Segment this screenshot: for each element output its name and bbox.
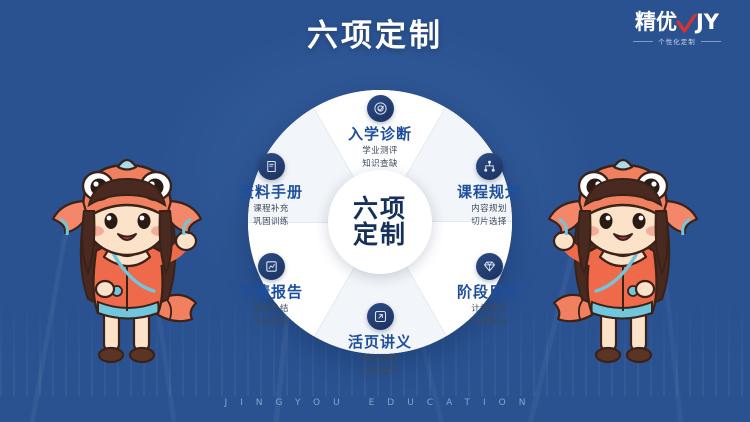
segment-subtitle: 内容规划 切片选择: [471, 203, 507, 228]
hub-label-line2: 定制: [353, 222, 407, 249]
segment-subtitle-line2: 知识查缺: [362, 158, 398, 170]
segment-subtitle-line1: 因材施教: [362, 353, 398, 365]
brand-logo: 精优 JY 个性化定制: [618, 8, 736, 50]
tagline-rule-left: [633, 41, 653, 42]
koi-girl-mascot-right: [542, 139, 702, 374]
footer-brand-text: JINGYOU EDUCATION: [0, 398, 750, 408]
hierarchy-icon: [476, 153, 503, 180]
diamond-icon: [476, 253, 503, 280]
report-chart-icon: [258, 253, 285, 280]
external-link-icon: [367, 303, 394, 330]
wheel-segment-material-manual[interactable]: 资料手册 课程补充 巩固训练: [215, 153, 327, 228]
segment-subtitle: 情况总结 互通有无: [253, 303, 289, 328]
logo-wordmark: 精优 JY: [635, 12, 719, 33]
segment-subtitle-line1: 计划落实: [471, 303, 507, 315]
wheel-hub: 六项 定制: [328, 170, 432, 274]
segment-subtitle-line1: 学业测评: [362, 145, 398, 157]
segment-title: 课程规划: [457, 184, 521, 201]
segment-subtitle-line2: 分层教学: [362, 366, 398, 378]
segment-subtitle: 学业测评 知识查缺: [362, 145, 398, 170]
segment-subtitle-line2: 互通有无: [253, 316, 289, 328]
hub-label: 六项 定制: [353, 196, 407, 249]
logo-brand-cn: 精优: [635, 12, 677, 33]
segment-subtitle-line2: 切片选择: [471, 216, 507, 228]
segment-subtitle: 计划落实 结果导向: [471, 303, 507, 328]
segment-subtitle: 课程补充 巩固训练: [253, 203, 289, 228]
compass-target-icon: [367, 95, 394, 122]
segment-subtitle: 因材施教 分层教学: [362, 353, 398, 378]
hub-label-line1: 六项: [353, 196, 407, 223]
wheel-segment-loose-leaf-handouts[interactable]: 活页讲义 因材施教 分层教学: [324, 303, 436, 378]
segment-subtitle-line1: 情况总结: [253, 303, 289, 315]
check-icon: [678, 13, 695, 33]
six-custom-wheel: 六项 定制 入学诊断 学业测评 知识查缺: [248, 90, 512, 354]
koi-girl-mascot-left: [48, 139, 208, 374]
segment-title: 入学诊断: [348, 126, 412, 143]
tagline-rule-right: [701, 41, 721, 42]
segment-subtitle-line2: 巩固训练: [253, 216, 289, 228]
segment-title: 学情报告: [239, 284, 303, 301]
wheel-segment-course-planning[interactable]: 课程规划 内容规划 切片选择: [433, 153, 545, 228]
logo-tagline-row: 个性化定制: [633, 36, 721, 46]
wheel-segment-learning-report[interactable]: 学情报告 情况总结 互通有无: [215, 253, 327, 328]
segment-title: 资料手册: [239, 184, 303, 201]
segment-subtitle-line2: 结果导向: [471, 316, 507, 328]
segment-title: 活页讲义: [348, 334, 412, 351]
segment-title: 阶段目标: [457, 284, 521, 301]
logo-tagline: 个性化定制: [658, 36, 696, 46]
book-manual-icon: [258, 153, 285, 180]
logo-brand-en: JY: [696, 12, 719, 33]
wheel-segment-stage-goals[interactable]: 阶段目标 计划落实 结果导向: [433, 253, 545, 328]
segment-subtitle-line1: 课程补充: [253, 203, 289, 215]
segment-subtitle-line1: 内容规划: [471, 203, 507, 215]
wheel-segment-entrance-diagnosis[interactable]: 入学诊断 学业测评 知识查缺: [324, 95, 436, 170]
